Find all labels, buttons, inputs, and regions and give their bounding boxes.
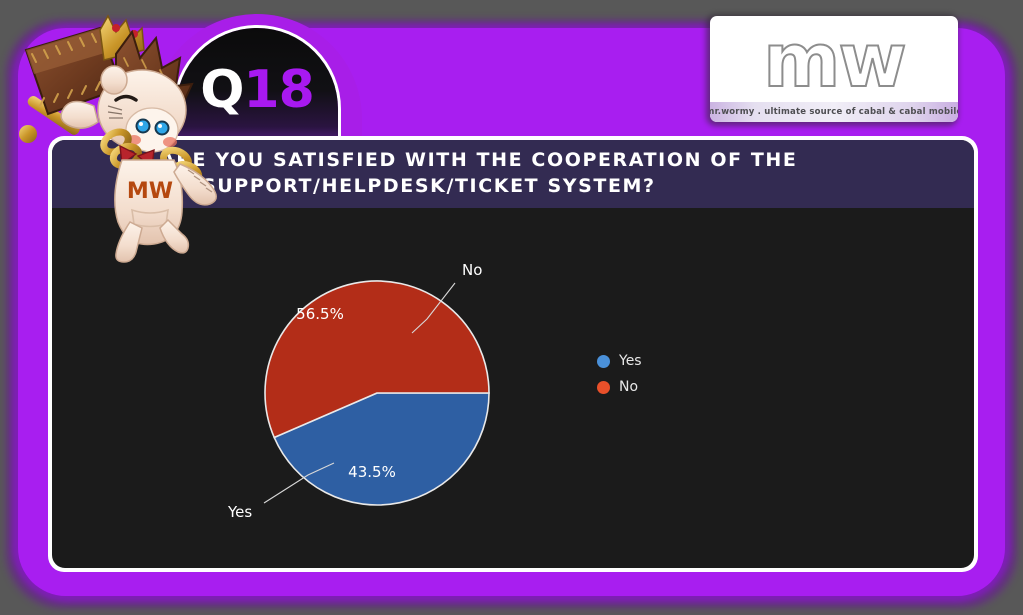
mascot-left-arm — [61, 101, 98, 128]
page-title-line-1: ARE YOU SATISFIED WITH THE COOPERATION O… — [160, 149, 798, 171]
slice-value-yes: 43.5% — [348, 463, 396, 481]
mascot-blush-right — [163, 137, 177, 147]
legend-swatch-no — [597, 381, 610, 394]
mascot-eye-blue-right — [156, 122, 169, 135]
legend-label-yes: Yes — [619, 353, 642, 369]
pie-chart-svg: 56.5% 43.5% No Yes — [212, 253, 572, 543]
legend-label-no: No — [619, 379, 638, 395]
slice-value-no: 56.5% — [296, 305, 344, 323]
legend-item-yes[interactable]: Yes — [597, 353, 642, 369]
poll-card: Q18 mw mr.wormy . ultimate source of cab… — [0, 0, 1023, 615]
slice-category-yes: Yes — [227, 503, 252, 521]
mr-wormy-mascot: MW — [4, 14, 219, 264]
mascot-leg-left — [116, 222, 142, 262]
legend-item-no[interactable]: No — [597, 379, 642, 395]
logo-tagline: mr.wormy . ultimate source of cabal & ca… — [710, 102, 958, 122]
chart-legend: YesNo — [597, 353, 642, 395]
question-badge-number: 18 — [243, 64, 313, 116]
legend-swatch-yes — [597, 355, 610, 368]
slice-category-no: No — [462, 261, 482, 279]
mascot-eye-blue-left — [137, 120, 150, 133]
pie-chart: 56.5% 43.5% No Yes — [212, 253, 572, 543]
logo-wordmark: mw — [710, 16, 958, 102]
page-title-line-2: SUPPORT/HELPDESK/TICKET SYSTEM? — [160, 174, 798, 200]
brand-logo[interactable]: mw mr.wormy . ultimate source of cabal &… — [710, 16, 958, 122]
mascot-shirt-text: MW — [127, 179, 173, 204]
